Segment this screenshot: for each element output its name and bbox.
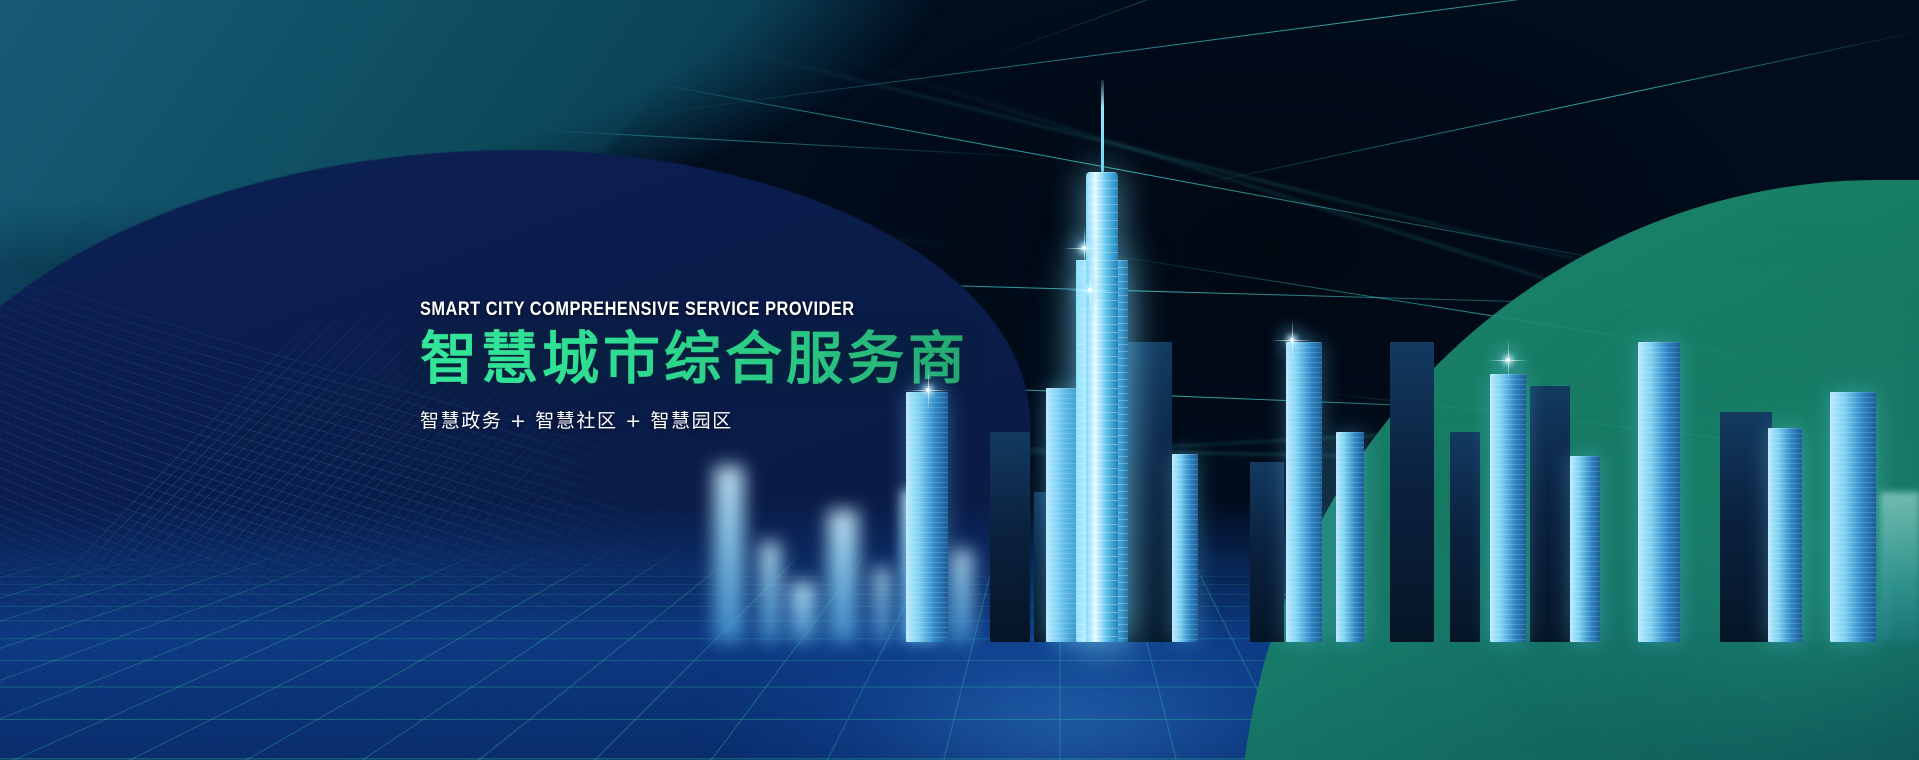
foreground-block bbox=[874, 568, 890, 642]
hero-tower-crown bbox=[1086, 172, 1118, 642]
foreground-block bbox=[790, 582, 816, 642]
building-silhouette bbox=[1390, 342, 1434, 642]
lens-flare-sparkle bbox=[1082, 246, 1086, 250]
building-tower bbox=[1172, 454, 1198, 642]
building-silhouette bbox=[1250, 462, 1284, 642]
building-tower bbox=[906, 392, 948, 642]
foreground-block bbox=[828, 510, 858, 642]
foreground-block bbox=[714, 466, 744, 642]
building-tower bbox=[1638, 342, 1680, 642]
building-far-right bbox=[1880, 492, 1919, 642]
building-silhouette bbox=[990, 432, 1030, 642]
building-silhouette bbox=[1450, 432, 1480, 642]
lens-flare-sparkle bbox=[1506, 358, 1510, 362]
lens-flare-sparkle bbox=[1088, 288, 1092, 292]
lens-flare-sparkle bbox=[926, 388, 930, 392]
lens-flare-sparkle bbox=[1290, 338, 1294, 342]
building-tower bbox=[1830, 392, 1876, 642]
foreground-block bbox=[952, 550, 972, 642]
building-tower bbox=[1570, 456, 1600, 642]
building-tower bbox=[1336, 432, 1364, 642]
building-silhouette bbox=[1720, 412, 1772, 642]
hero-headline: 智慧城市综合服务商 bbox=[420, 327, 1180, 392]
building-tower bbox=[1768, 428, 1802, 642]
hero-banner: SMART CITY COMPREHENSIVE SERVICE PROVIDE… bbox=[0, 0, 1919, 760]
hero-eyebrow: SMART CITY COMPREHENSIVE SERVICE PROVIDE… bbox=[420, 300, 1074, 319]
building-silhouette bbox=[1530, 386, 1570, 642]
building-tower bbox=[1490, 374, 1526, 642]
hero-tower-spire bbox=[1101, 80, 1104, 172]
building-tower bbox=[1286, 342, 1322, 642]
foreground-block bbox=[760, 542, 780, 642]
